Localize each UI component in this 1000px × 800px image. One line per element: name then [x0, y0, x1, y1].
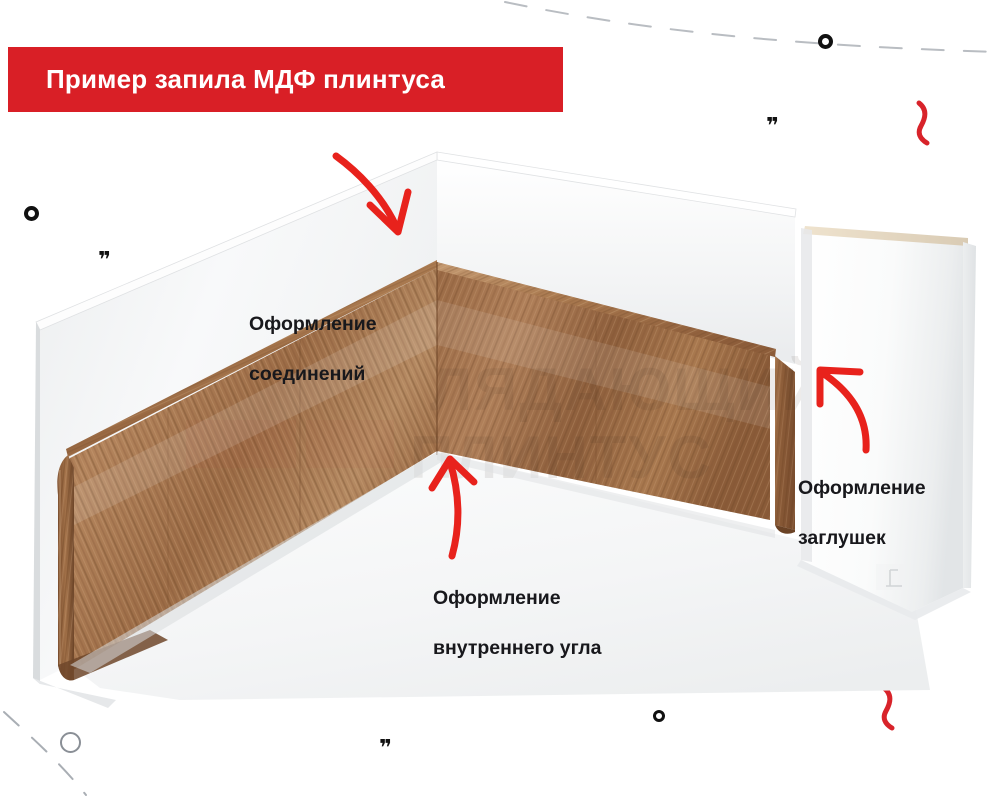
annotation-inner-corner-line1: Оформление: [433, 586, 601, 611]
wall-left-thickness: [33, 322, 40, 684]
annotation-end-caps-line2: заглушек: [798, 526, 926, 551]
annotation-inner-corner: Оформление внутреннего угла: [433, 561, 601, 686]
annotation-joints-line2: соединений: [249, 362, 377, 387]
annotation-joints: Оформление соединений: [249, 287, 377, 412]
title-banner: Пример запила МДФ плинтуса: [8, 47, 563, 112]
annotation-inner-corner-line2: внутреннего угла: [433, 636, 601, 661]
annotation-end-caps-line1: Оформление: [798, 476, 926, 501]
poster-canvas: ❞ ❞ ❞: [0, 0, 1000, 800]
watermark-line-1: ЛЯДАЮЩИЙ: [430, 356, 827, 423]
end-cap-right-edge: [963, 242, 976, 588]
watermark-block-1: [186, 420, 296, 468]
banner-title-text: Пример запила МДФ плинтуса: [46, 64, 445, 95]
annotation-joints-line1: Оформление: [249, 312, 377, 337]
annotation-end-caps: Оформление заглушек: [798, 451, 926, 576]
watermark-block-2: [306, 420, 394, 468]
